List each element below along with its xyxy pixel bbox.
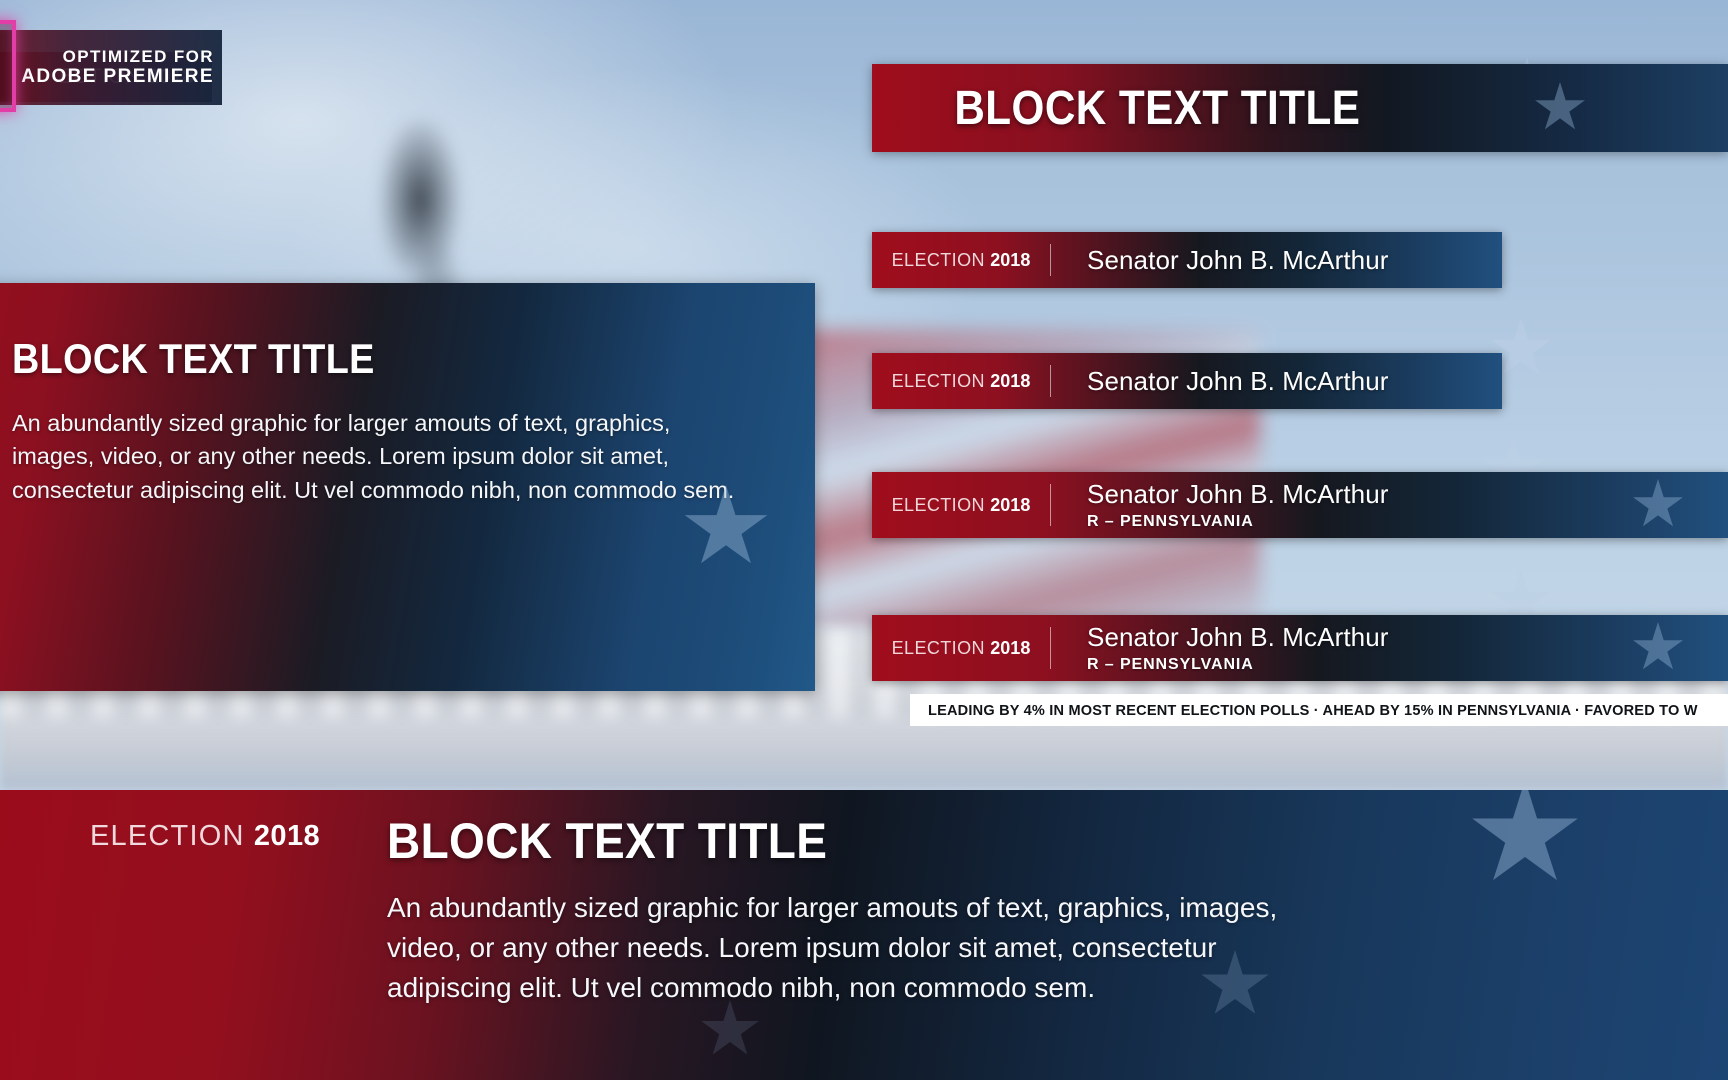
lower-third-eyebrow: ELECTION 2018 xyxy=(872,371,1050,392)
lower-third-subtitle: R – PENNSYLVANIA xyxy=(1087,656,1389,674)
lower-third-name: Senator John B. McArthur xyxy=(1087,479,1389,510)
lower-third-eyebrow: ELECTION 2018 xyxy=(872,495,1050,516)
star-icon xyxy=(700,1000,760,1060)
premiere-highlight-frame xyxy=(0,20,16,112)
badge-line-1: OPTIMIZED FOR xyxy=(63,47,214,67)
lower-third-name: Senator John B. McArthur xyxy=(1087,622,1389,653)
ticker-text: LEADING BY 4% IN MOST RECENT ELECTION PO… xyxy=(928,702,1698,719)
lower-third-eyebrow: ELECTION 2018 xyxy=(872,250,1050,271)
star-icon xyxy=(1632,622,1684,674)
lower-third-bar: ELECTION 2018 Senator John B. McArthur xyxy=(872,232,1502,288)
title-bar: BLOCK TEXT TITLE xyxy=(872,64,1728,152)
left-box-body: An abundantly sized graphic for larger a… xyxy=(12,407,755,507)
badge-line-2: ADOBE PREMIERE xyxy=(21,66,214,88)
lower-third-bar: ELECTION 2018 Senator John B. McArthur R… xyxy=(872,615,1728,681)
star-icon xyxy=(1534,82,1586,134)
lower-third-eyebrow: ELECTION 2018 xyxy=(872,638,1050,659)
left-content-box: BLOCK TEXT TITLE An abundantly sized gra… xyxy=(0,283,815,691)
star-icon xyxy=(1470,790,1580,890)
lower-third-name: Senator John B. McArthur xyxy=(1087,245,1389,276)
lower-third-name: Senator John B. McArthur xyxy=(1087,366,1389,397)
news-ticker: LEADING BY 4% IN MOST RECENT ELECTION PO… xyxy=(910,694,1728,726)
optimized-for-premiere-badge: OPTIMIZED FOR ADOBE PREMIERE xyxy=(0,30,222,105)
bottom-banner-title: BLOCK TEXT TITLE xyxy=(387,812,827,870)
lower-third-subtitle: R – PENNSYLVANIA xyxy=(1087,513,1389,531)
lower-third-bar: ELECTION 2018 Senator John B. McArthur R… xyxy=(872,472,1728,538)
title-bar-text: BLOCK TEXT TITLE xyxy=(954,81,1360,136)
bottom-banner-body: An abundantly sized graphic for larger a… xyxy=(387,888,1287,1007)
lower-third-bar: ELECTION 2018 Senator John B. McArthur xyxy=(872,353,1502,409)
left-box-title: BLOCK TEXT TITLE xyxy=(12,335,681,383)
bottom-banner-eyebrow: ELECTION 2018 xyxy=(90,820,320,853)
star-icon xyxy=(1632,479,1684,531)
